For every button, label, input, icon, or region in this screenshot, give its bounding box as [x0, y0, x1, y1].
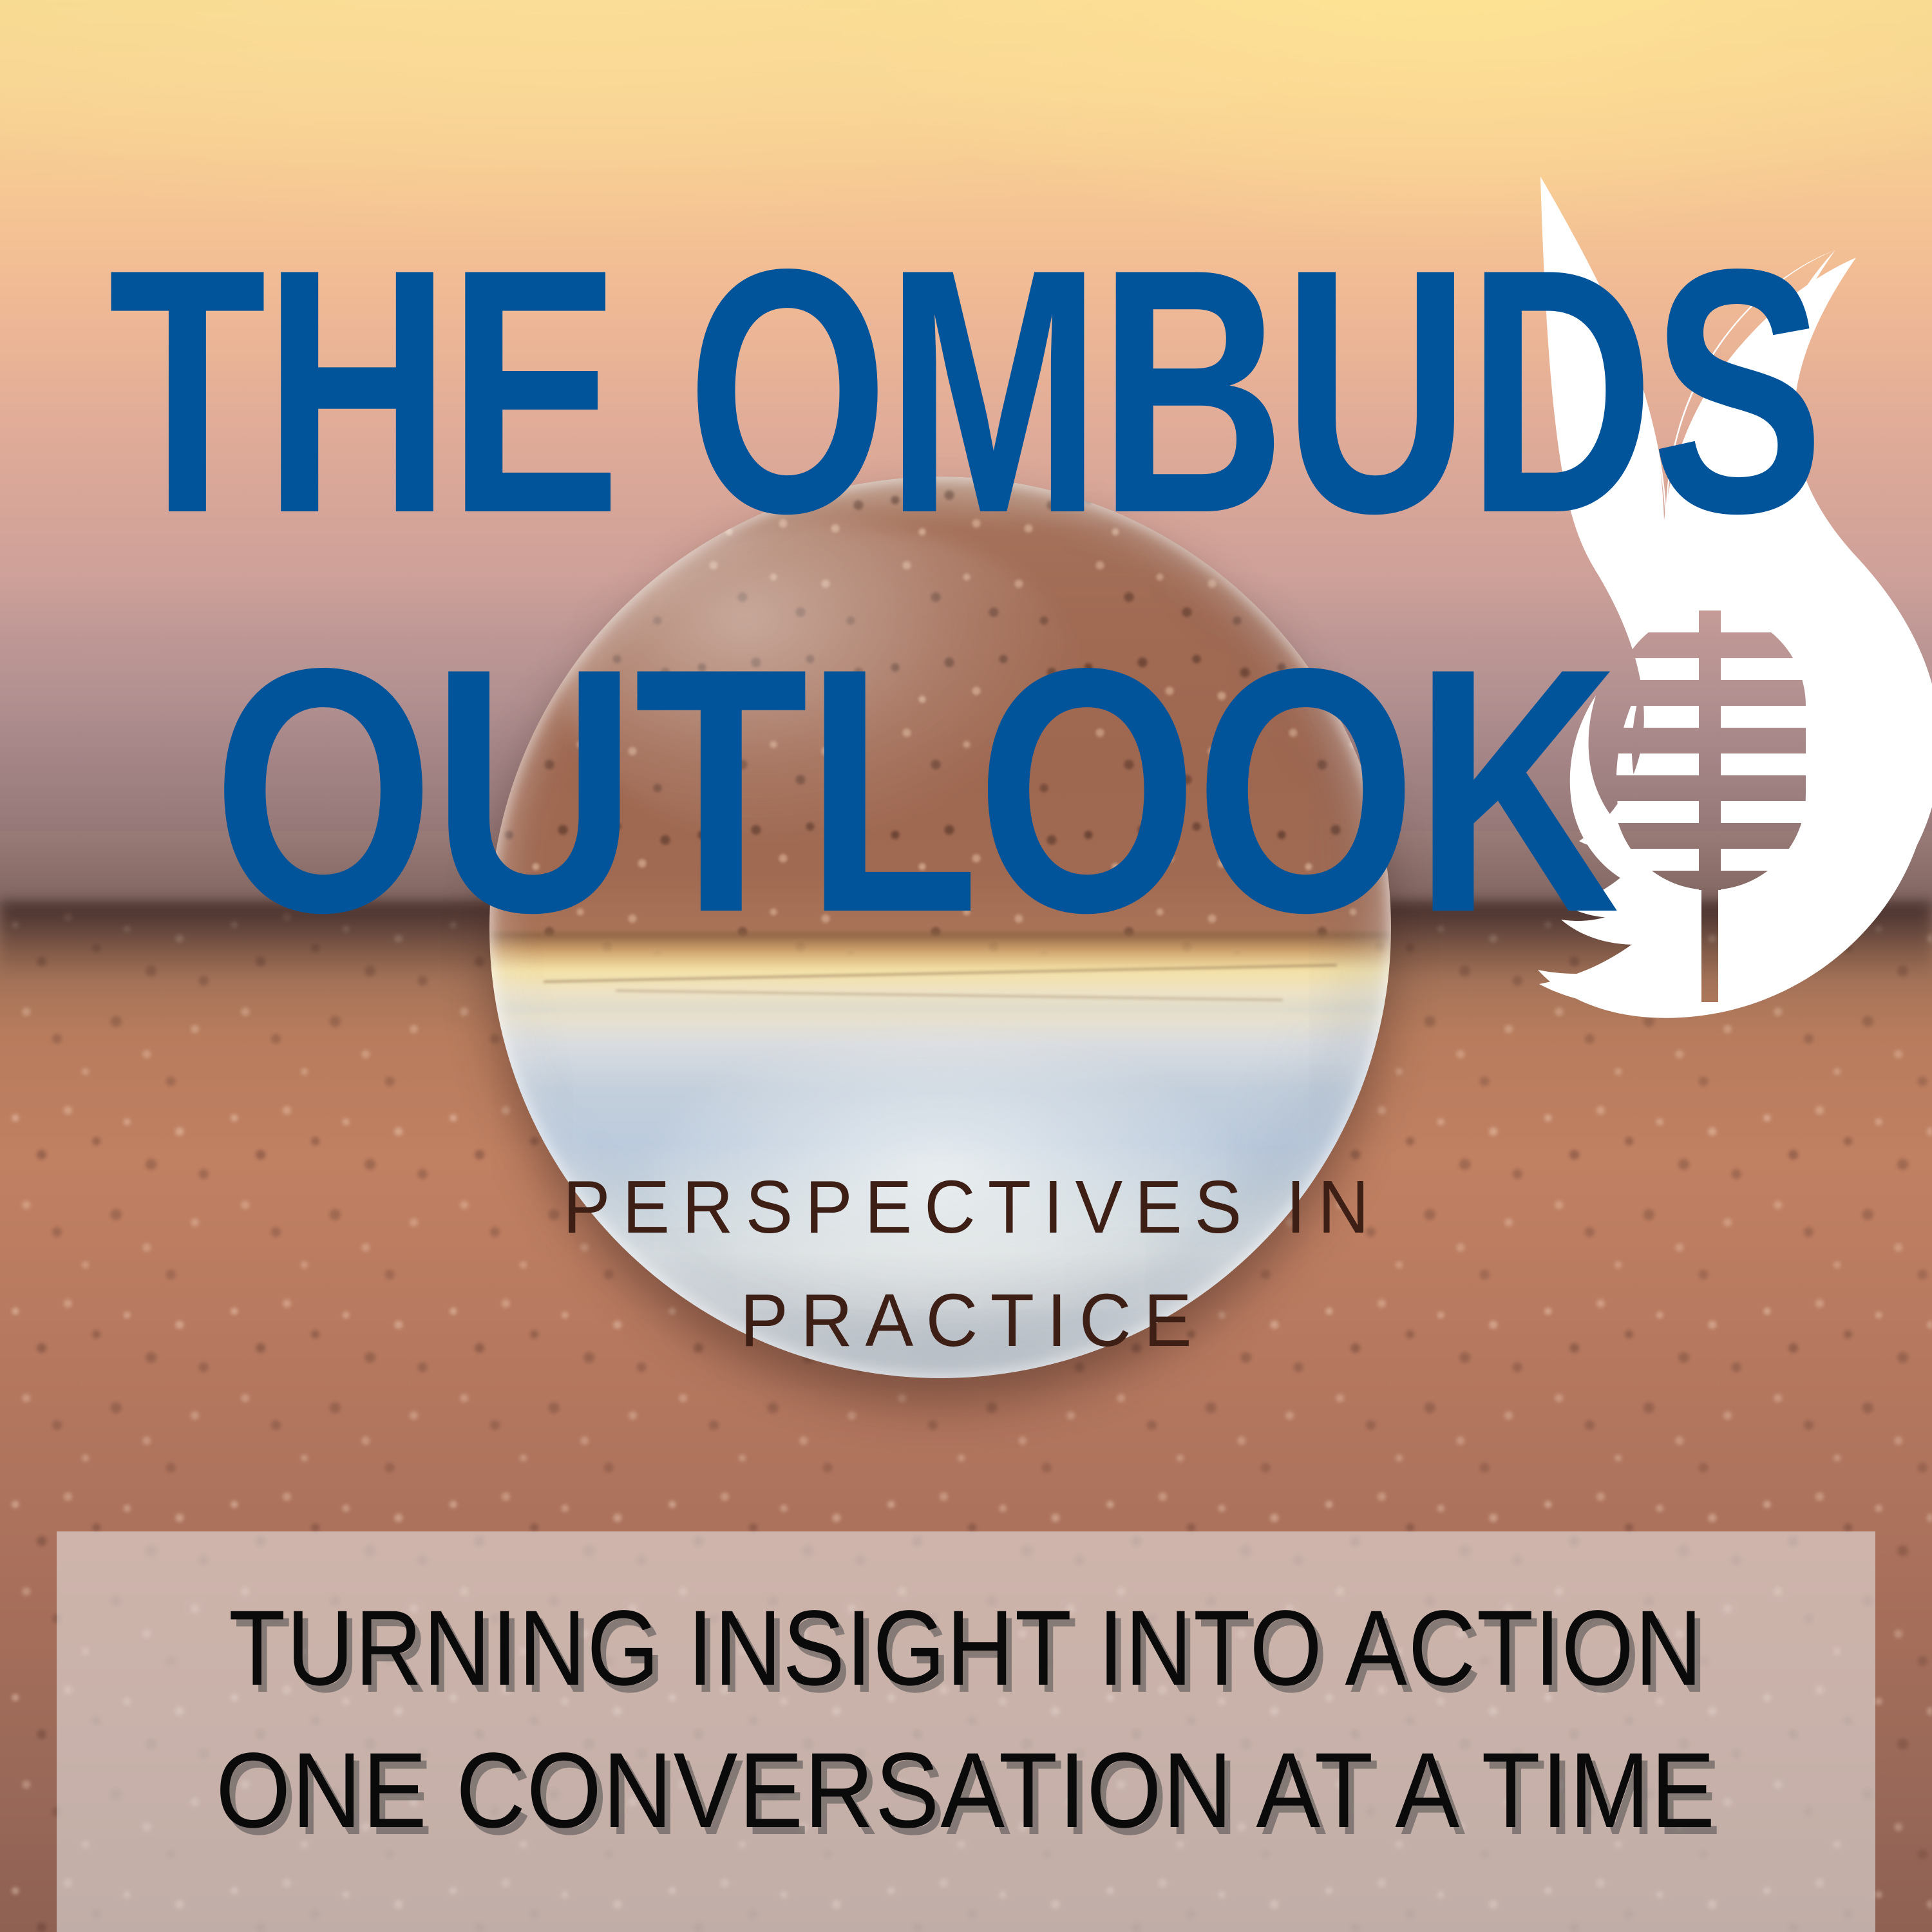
tagline-line-1: TURNING INSIGHT INTO ACTION [175, 1578, 1758, 1720]
podcast-cover-art: THE OMBUDS OUTLOOK PERSPECTIVES IN PRACT… [0, 0, 1932, 1932]
tagline-line-2: ONE CONVERSATION AT A TIME [147, 1720, 1786, 1862]
cover-subtitle: PERSPECTIVES IN PRACTICE [0, 1150, 1932, 1378]
tagline-banner: TURNING INSIGHT INTO ACTION ONE CONVERSA… [57, 1531, 1875, 1932]
title-line-1: THE OMBUDS [108, 218, 1821, 565]
cover-tagline: TURNING INSIGHT INTO ACTION ONE CONVERSA… [57, 1578, 1875, 1862]
title-line-2: OUTLOOK [213, 617, 1616, 965]
subtitle-line-2: PRACTICE [33, 1264, 1899, 1377]
subtitle-line-1: PERSPECTIVES IN [48, 1150, 1884, 1264]
